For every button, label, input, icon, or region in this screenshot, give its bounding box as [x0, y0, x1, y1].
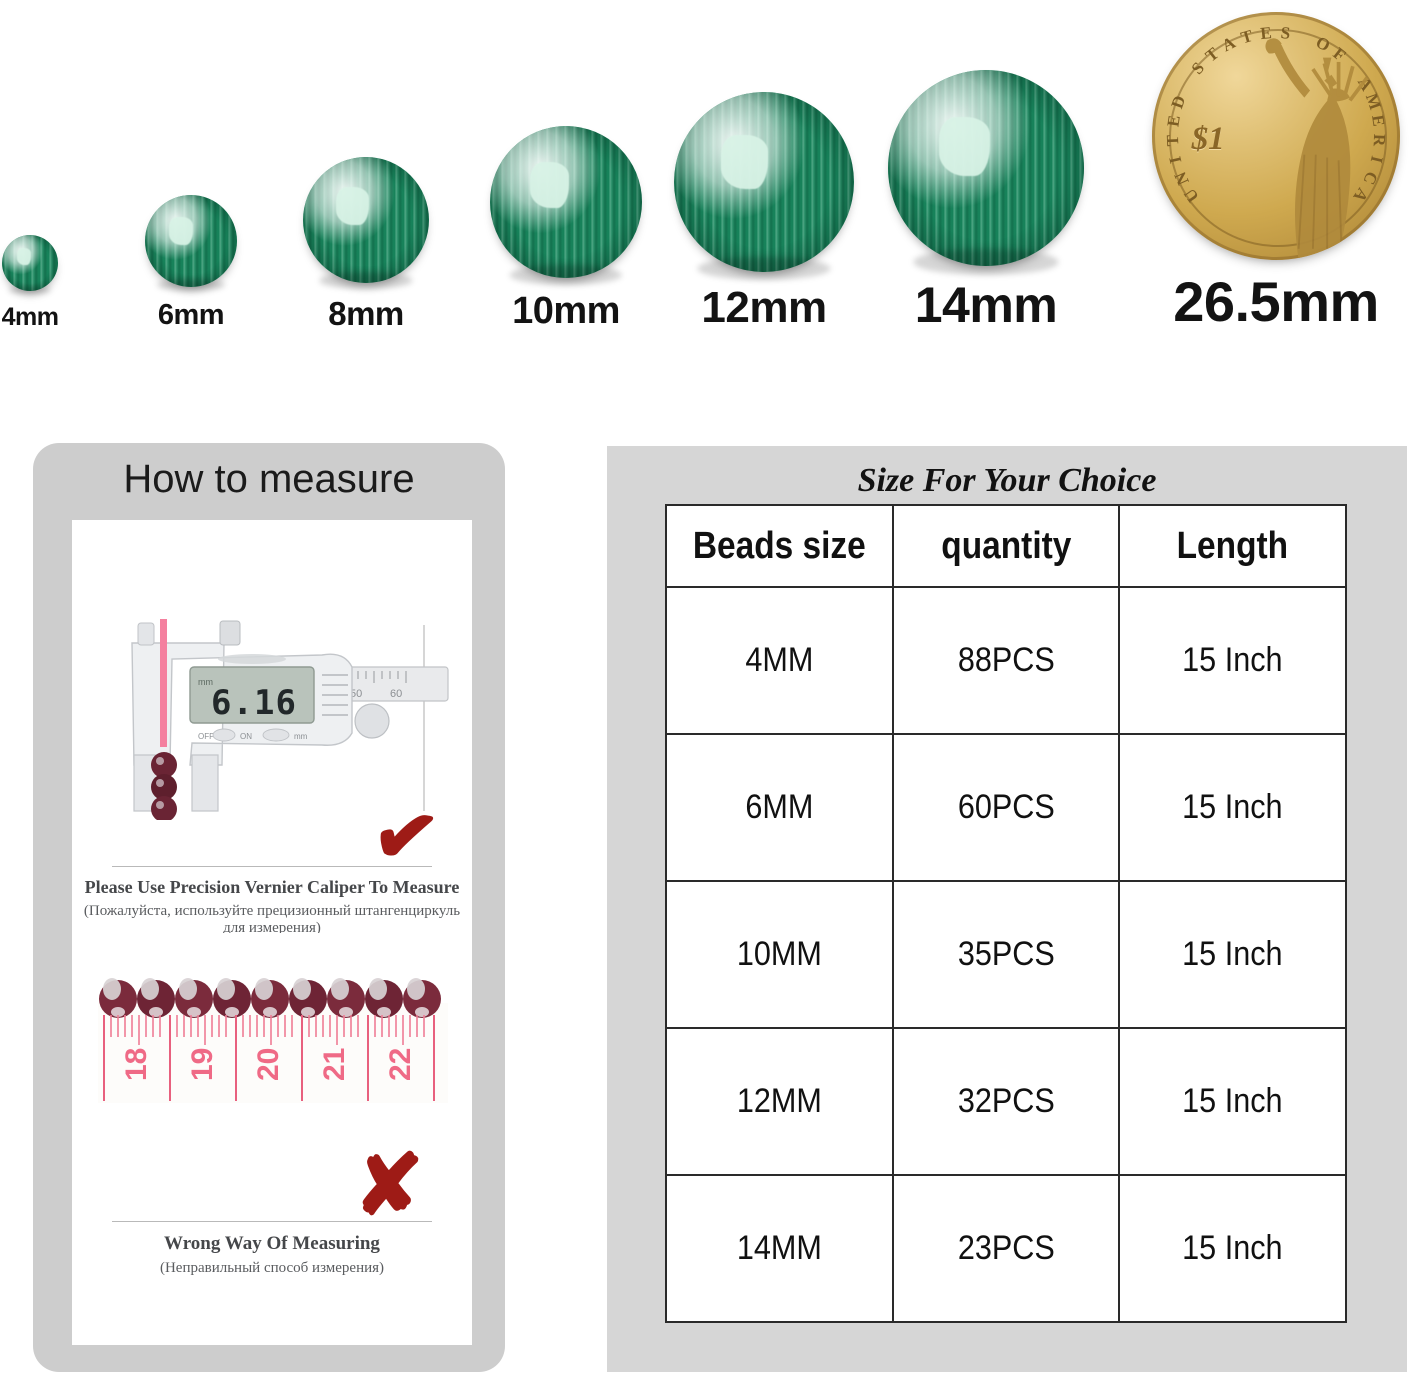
table-row: 10MM35PCS15 Inch: [666, 881, 1346, 1028]
cell-quantity: 35PCS: [904, 881, 1108, 1028]
caliper-caption-divider: [112, 866, 432, 867]
bead-drop-shadow: [510, 265, 622, 285]
tape-number: 19: [186, 1048, 219, 1081]
cell-quantity: 60PCS: [904, 734, 1108, 881]
cell-beads-size: 14MM: [677, 1175, 881, 1322]
cell-length: 15 Inch: [1131, 587, 1335, 734]
cell-quantity: 32PCS: [904, 1028, 1108, 1175]
vernier-caliper-illustration: 50 60 mm 6.16 OFF ON: [72, 615, 472, 820]
size-table-title: Size For Your Choice: [607, 462, 1407, 500]
table-row: 12MM32PCS15 Inch: [666, 1028, 1346, 1175]
cell-beads-size: 6MM: [677, 734, 881, 881]
bead-size-comparison-row: 4mm6mm8mm10mm12mm14mmUNITEDSTATESOFAMERI…: [0, 0, 1414, 400]
column-header-quantity: quantity: [906, 505, 1105, 587]
caliper-photo-card: 50 60 mm 6.16 OFF ON: [72, 520, 472, 960]
size-sample-6mm: 6mm: [116, 195, 266, 330]
size-sample-12mm: 12mm: [674, 92, 854, 330]
svg-text:ON: ON: [240, 732, 252, 741]
caliper-caption-en: Please Use Precision Vernier Caliper To …: [72, 877, 472, 898]
tape-number: 18: [120, 1048, 153, 1081]
how-to-measure-title: How to measure: [33, 457, 505, 502]
caliper-caption-ru: (Пожалуйста, используйте прецизионный шт…: [72, 903, 472, 937]
size-table-panel: Size For Your Choice Beads size quantity…: [607, 446, 1407, 1372]
size-sample-14mm: 14mm: [888, 70, 1084, 330]
table-header-row: Beads size quantity Length: [666, 505, 1346, 587]
cell-beads-size: 12MM: [677, 1028, 881, 1175]
svg-text:6.16: 6.16: [211, 683, 297, 723]
bead-highlight-facet: [721, 135, 768, 189]
size-label-6mm: 6mm: [116, 301, 266, 330]
bead-highlight-facet: [336, 187, 369, 225]
malachite-bead: [145, 195, 237, 287]
wrong-cross-icon: ✘: [354, 1143, 424, 1227]
statue-of-liberty-relief: [1241, 32, 1385, 260]
bead-highlight-facet: [169, 217, 193, 245]
table-row: 6MM60PCS15 Inch: [666, 734, 1346, 881]
size-sample-8mm: 8mm: [291, 157, 441, 330]
cell-length: 15 Inch: [1131, 1028, 1335, 1175]
cell-length: 15 Inch: [1131, 734, 1335, 881]
cell-quantity: 88PCS: [904, 587, 1108, 734]
coin-denomination: $1: [1192, 121, 1225, 158]
svg-text:mm: mm: [294, 732, 308, 741]
size-label-8mm: 8mm: [291, 297, 441, 330]
malachite-bead: [674, 92, 854, 272]
tape-photo-card: 18 19 20 21 22 ✘ Wrong Way Of Measuring …: [72, 933, 472, 1345]
tape-caption-ru: (Неправильный способ измерения): [72, 1260, 472, 1277]
size-table: Beads size quantity Length 4MM88PCS15 In…: [665, 504, 1347, 1323]
malachite-bead: [888, 70, 1084, 266]
bead-highlight-facet: [17, 248, 32, 265]
cell-length: 15 Inch: [1131, 1175, 1335, 1322]
table-row: 4MM88PCS15 Inch: [666, 587, 1346, 734]
cell-beads-size: 10MM: [677, 881, 881, 1028]
tape-number: 21: [318, 1048, 351, 1081]
cell-beads-size: 4MM: [677, 587, 881, 734]
bead-drop-shadow: [697, 257, 830, 280]
size-label-26-5mm: 26.5mm: [1152, 274, 1400, 330]
bead-drop-shadow: [157, 279, 225, 291]
bead-highlight-facet: [530, 162, 570, 208]
svg-text:60: 60: [390, 688, 402, 700]
cell-length: 15 Inch: [1131, 881, 1335, 1028]
size-label-4mm: 4mm: [0, 305, 105, 330]
size-sample-10mm: 10mm: [490, 126, 642, 330]
malachite-bead: [490, 126, 642, 278]
tape-caption-divider: [112, 1221, 432, 1222]
column-header-beads-size: Beads size: [680, 505, 879, 587]
tape-number: 22: [384, 1048, 417, 1081]
table-row: 14MM23PCS15 Inch: [666, 1175, 1346, 1322]
malachite-bead: [303, 157, 429, 283]
cell-quantity: 23PCS: [904, 1175, 1108, 1322]
tape-number: 20: [252, 1048, 285, 1081]
bead-highlight-facet: [939, 117, 990, 176]
svg-text:OFF: OFF: [198, 732, 214, 741]
bead-drop-shadow: [319, 272, 412, 288]
size-sample-4mm: 4mm: [0, 235, 105, 330]
how-to-measure-panel: How to measure 50 60: [33, 443, 505, 1372]
tape-caption-en: Wrong Way Of Measuring: [72, 1233, 472, 1255]
bead-drop-shadow: [9, 286, 50, 293]
size-label-12mm: 12mm: [674, 286, 854, 330]
measuring-tape-illustration: 18 19 20 21 22: [98, 963, 448, 1103]
bead-drop-shadow: [913, 249, 1058, 274]
malachite-bead: [2, 235, 58, 291]
column-header-length: Length: [1133, 505, 1332, 587]
size-label-14mm: 14mm: [888, 280, 1084, 330]
size-sample-26-5mm: UNITEDSTATESOFAMERICA$126.5mm: [1152, 12, 1400, 330]
us-dollar-coin: UNITEDSTATESOFAMERICA$1: [1152, 12, 1400, 260]
size-label-10mm: 10mm: [490, 292, 642, 330]
